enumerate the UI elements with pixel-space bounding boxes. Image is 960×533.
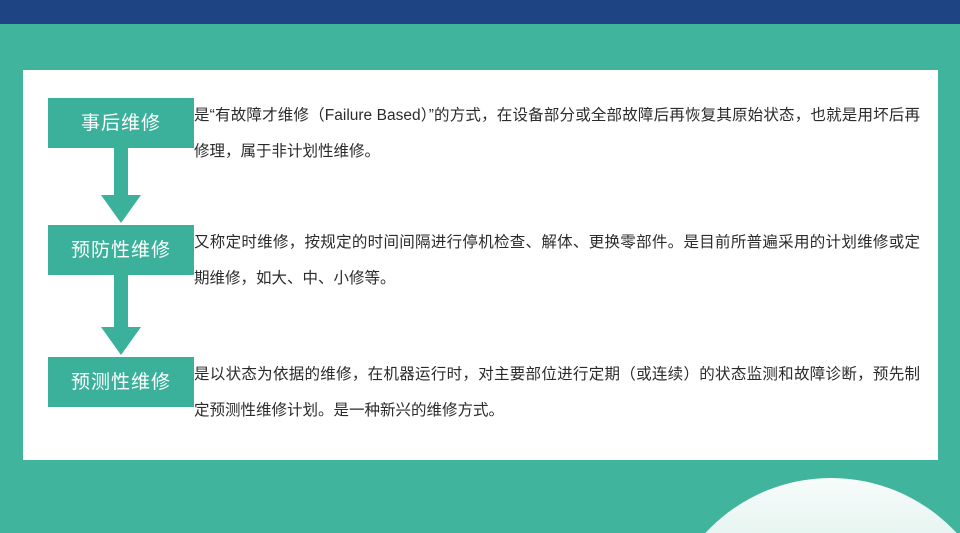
text-column-3: 是以状态为依据的维修，在机器运行时，对主要部位进行定期（或连续）的状态监测和故障… xyxy=(194,357,938,429)
label-box-preventive-maintenance[interactable]: 预防性维修 xyxy=(48,225,194,275)
arrow-shaft xyxy=(114,143,128,197)
top-navy-band xyxy=(0,0,960,24)
label-text: 预防性维修 xyxy=(71,241,171,260)
maintenance-row-1: 事后维修 是“有故障才维修（Failure Based）”的方式，在设备部分或全… xyxy=(23,98,938,170)
paragraph-corrective-maintenance: 是“有故障才维修（Failure Based）”的方式，在设备部分或全部故障后再… xyxy=(194,98,920,170)
arrow-head xyxy=(101,195,141,223)
maintenance-row-3: 预测性维修 是以状态为依据的维修，在机器运行时，对主要部位进行定期（或连续）的状… xyxy=(23,357,938,429)
arrow-head xyxy=(101,327,141,355)
arrow-shaft xyxy=(114,273,128,329)
down-arrow-icon-1 xyxy=(106,143,136,223)
label-box-predictive-maintenance[interactable]: 预测性维修 xyxy=(48,357,194,407)
label-column-2: 预防性维修 xyxy=(23,225,194,275)
decorative-circle xyxy=(660,478,960,533)
label-text: 预测性维修 xyxy=(71,373,171,392)
down-arrow-icon-2 xyxy=(106,273,136,355)
label-column-3: 预测性维修 xyxy=(23,357,194,407)
label-text: 事后维修 xyxy=(81,114,161,133)
paragraph-preventive-maintenance: 又称定时维修，按规定的时间间隔进行停机检查、解体、更换零部件。是目前所普遍采用的… xyxy=(194,225,920,297)
content-card: 事后维修 是“有故障才维修（Failure Based）”的方式，在设备部分或全… xyxy=(23,70,938,460)
paragraph-predictive-maintenance: 是以状态为依据的维修，在机器运行时，对主要部位进行定期（或连续）的状态监测和故障… xyxy=(194,357,920,429)
maintenance-row-2: 预防性维修 又称定时维修，按规定的时间间隔进行停机检查、解体、更换零部件。是目前… xyxy=(23,225,938,297)
slide-canvas: 事后维修 是“有故障才维修（Failure Based）”的方式，在设备部分或全… xyxy=(0,0,960,533)
text-column-1: 是“有故障才维修（Failure Based）”的方式，在设备部分或全部故障后再… xyxy=(194,98,938,170)
label-box-corrective-maintenance[interactable]: 事后维修 xyxy=(48,98,194,148)
text-column-2: 又称定时维修，按规定的时间间隔进行停机检查、解体、更换零部件。是目前所普遍采用的… xyxy=(194,225,938,297)
label-column-1: 事后维修 xyxy=(23,98,194,148)
